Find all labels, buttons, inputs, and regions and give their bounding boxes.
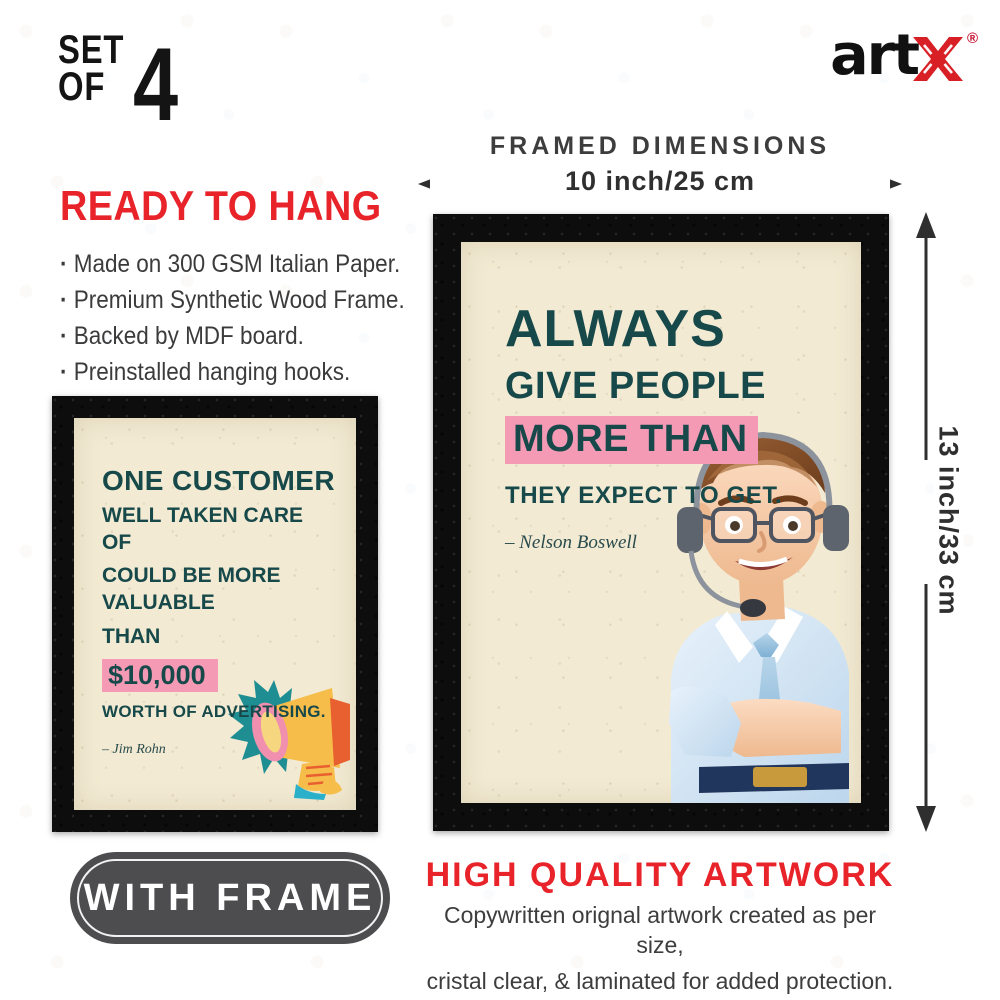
poster-large-highlighted-line: MORE THAN bbox=[505, 416, 758, 464]
width-dimension-label: 10 inch/25 cm bbox=[430, 166, 890, 197]
with-frame-badge: WITH FRAME bbox=[70, 852, 390, 944]
poster-small-line4: WORTH OF ADVERTISING. bbox=[102, 702, 338, 722]
features-list: Made on 300 GSM Italian Paper. Premium S… bbox=[60, 246, 390, 390]
poster-large-paper: ALWAYS GIVE PEOPLE MORE THAN THEY EXPECT… bbox=[461, 242, 861, 803]
poster-small-line2a: WELL TAKEN CARE OF bbox=[102, 503, 338, 557]
framed-poster-large: ALWAYS GIVE PEOPLE MORE THAN THEY EXPECT… bbox=[433, 214, 889, 831]
poster-small-attribution: – Jim Rohn bbox=[102, 742, 338, 758]
feature-item: Backed by MDF board. bbox=[60, 318, 357, 354]
set-count: 4 bbox=[133, 26, 178, 145]
brand-logo-text: art bbox=[830, 28, 918, 84]
set-of-badge: SET OF 4 bbox=[58, 32, 191, 151]
poster-large-attribution: – Nelson Boswell bbox=[505, 532, 831, 554]
poster-large-text: ALWAYS GIVE PEOPLE MORE THAN THEY EXPECT… bbox=[505, 302, 831, 554]
poster-large-line4: THEY EXPECT TO GET. bbox=[505, 482, 831, 510]
width-dimension-value: 10 inch/25 cm bbox=[551, 166, 769, 196]
poster-small-paper: ONE CUSTOMER WELL TAKEN CARE OF COULD BE… bbox=[74, 418, 356, 810]
quality-heading: HIGH QUALITY ARTWORK bbox=[420, 856, 900, 895]
poster-small-line2b: COULD BE MORE VALUABLE bbox=[102, 563, 338, 617]
quality-description-line2: cristal clear, & laminated for added pro… bbox=[420, 967, 900, 997]
height-dimension-label: 13 inch/33 cm bbox=[933, 411, 964, 631]
features-heading: READY TO HANG bbox=[60, 182, 357, 230]
quality-description-line1: Copywritten orignal artwork created as p… bbox=[420, 901, 900, 961]
brand-logo-x-icon bbox=[911, 33, 965, 85]
quality-block: HIGH QUALITY ARTWORK Copywritten orignal… bbox=[420, 856, 900, 997]
brand-logo: art ® bbox=[831, 28, 978, 85]
poster-small-text: ONE CUSTOMER WELL TAKEN CARE OF COULD BE… bbox=[102, 466, 338, 758]
feature-item: Preinstalled hanging hooks. bbox=[60, 354, 357, 390]
height-dimension-value: 13 inch/33 cm bbox=[934, 415, 964, 625]
features-block: READY TO HANG Made on 300 GSM Italian Pa… bbox=[60, 182, 390, 390]
set-label-set: SET bbox=[58, 32, 124, 69]
feature-item: Premium Synthetic Wood Frame. bbox=[60, 282, 357, 318]
poster-small-highlighted-line: $10,000 bbox=[102, 659, 218, 692]
poster-small-line2c: THAN bbox=[102, 624, 338, 651]
set-label-of: OF bbox=[58, 69, 124, 106]
feature-item: Made on 300 GSM Italian Paper. bbox=[60, 246, 357, 282]
poster-large-line2: GIVE PEOPLE bbox=[505, 367, 831, 407]
registered-trademark-icon: ® bbox=[967, 30, 978, 47]
framed-dimensions-title: FRAMED DIMENSIONS bbox=[430, 132, 890, 161]
poster-small-line1: ONE CUSTOMER bbox=[102, 466, 338, 496]
poster-large-line1: ALWAYS bbox=[505, 302, 831, 357]
with-frame-badge-label: WITH FRAME bbox=[84, 877, 377, 920]
framed-poster-small: ONE CUSTOMER WELL TAKEN CARE OF COULD BE… bbox=[52, 396, 378, 832]
